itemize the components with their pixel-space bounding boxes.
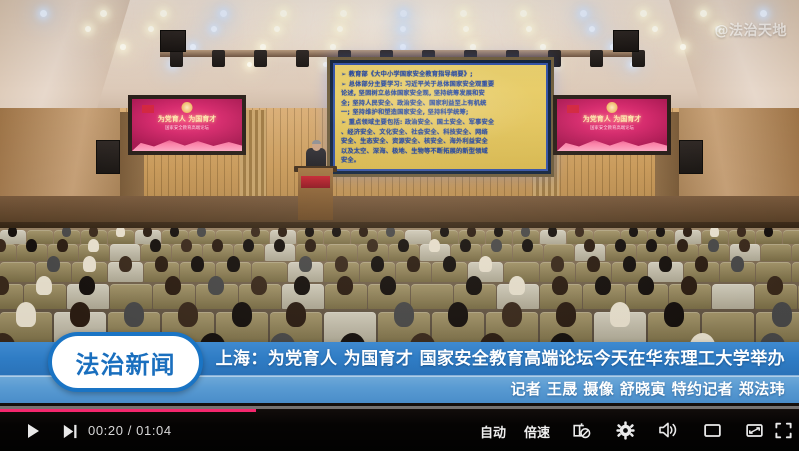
ceiling-light: [760, 10, 767, 17]
stage-light-bar: [160, 50, 640, 57]
ceiling-light: [700, 10, 707, 17]
audience-member: [509, 276, 525, 295]
program-logo-label: 法治新闻: [76, 345, 176, 380]
audience-member: [251, 276, 267, 295]
flag-graphic-left: [142, 105, 154, 113]
audience-member: [556, 302, 576, 327]
ceiling-light: [337, 26, 343, 32]
picture-in-picture-icon[interactable]: [700, 418, 724, 442]
ceiling-light: [148, 26, 154, 32]
ceiling-light: [640, 10, 647, 17]
audience-member: [394, 302, 414, 327]
stage-spotlight: [296, 50, 309, 67]
news-credits: 记者 王晟 摄像 舒晓寅 特约记者 郑法玮: [510, 377, 785, 402]
ceiling-light: [330, 44, 336, 50]
hanging-speaker-right: [613, 30, 639, 52]
audience-member: [681, 276, 697, 295]
stage-spotlight: [254, 50, 267, 67]
audience-member: [739, 239, 750, 252]
ceiling-light: [40, 10, 47, 17]
audience-member: [491, 239, 502, 252]
led-screen-right: 为党育人 为国育才 国家安全教育高端论坛: [553, 95, 671, 155]
slide-line: 、经济安全、文化安全、社会安全、科技安全、网络: [341, 128, 540, 138]
stage-spotlight: [632, 50, 645, 67]
audience-member: [460, 239, 471, 252]
ceiling-light: [589, 26, 595, 32]
ceiling-light: [120, 44, 126, 50]
ceiling-light: [247, 62, 252, 67]
audience-member: [286, 302, 306, 327]
ceiling-light: [400, 44, 406, 50]
audience-member: [595, 276, 611, 295]
play-button[interactable]: [20, 418, 46, 444]
ceiling-light: [160, 10, 167, 17]
hanging-speaker-left: [160, 30, 186, 52]
audience-member: [191, 256, 204, 272]
audience-member: [466, 276, 482, 295]
audience-member: [677, 239, 688, 252]
audience-member: [695, 256, 708, 272]
no-screenshot-icon[interactable]: [570, 418, 594, 442]
ceiling-light: [220, 10, 227, 17]
auditorium-seat: [405, 230, 431, 244]
audience-member: [16, 302, 36, 327]
ceiling-light: [85, 26, 91, 32]
ceiling-light: [340, 10, 347, 17]
audience-member: [638, 276, 654, 295]
slide-line: 一; 坚持维护和塑造国家安全, 坚持科学统筹;: [341, 108, 540, 118]
audience-member: [124, 302, 144, 327]
lower-third: 上海：为党育人 为国育才 国家安全教育高端论坛今天在华东理工大学举办 记者 王晟…: [0, 342, 799, 403]
audience-member: [552, 276, 568, 295]
audience-member: [610, 302, 630, 327]
audience-member: [659, 256, 672, 272]
audience-member: [623, 256, 636, 272]
led-skyline-right: [557, 133, 667, 151]
ceiling-light: [400, 26, 406, 32]
audience-member: [119, 256, 132, 272]
audience-member: [36, 276, 52, 295]
ceiling-light: [580, 10, 587, 17]
led-title-right: 为党育人 为国育才: [557, 114, 667, 124]
audience-member: [371, 256, 384, 272]
slide-line: 安全、生态安全、资源安全、核安全、海外利益安全: [341, 137, 540, 147]
wall-speaker-right: [679, 140, 703, 174]
audience-member: [367, 239, 378, 252]
ceiling-light: [100, 10, 107, 17]
audience-member: [79, 276, 95, 295]
audience-member: [335, 256, 348, 272]
audience-member: [274, 239, 285, 252]
auditorium-seat: [761, 244, 791, 261]
slide-line: ➢ 总体部分主要学习: 习近平关于总体国家安全观重要: [341, 80, 540, 90]
projection-screen-content: ➢ 教育部《大中小学国家安全教育指导纲要》;➢ 总体部分主要学习: 习近平关于总…: [333, 63, 548, 171]
audience-member: [479, 256, 492, 272]
stage-spotlight: [212, 50, 225, 67]
audience-member: [181, 239, 192, 252]
audience-member: [646, 239, 657, 252]
audience-member: [47, 256, 60, 272]
stage-spotlight: [590, 50, 603, 67]
audience-member: [155, 256, 168, 272]
settings-gear-icon[interactable]: [613, 418, 637, 442]
ceiling-light: [520, 10, 527, 17]
volume-icon[interactable]: [656, 418, 680, 442]
ceiling-light: [540, 44, 546, 50]
program-logo: 法治新闻: [48, 332, 203, 392]
audience-member: [584, 239, 595, 252]
audience-member: [731, 256, 744, 272]
news-headline: 上海：为党育人 为国育才 国家安全教育高端论坛今天在华东理工大学举办: [216, 344, 785, 374]
auditorium-seat: [712, 284, 754, 309]
audience-member: [664, 302, 684, 327]
audience-member: [243, 239, 254, 252]
audience-member: [615, 239, 626, 252]
audience-member: [294, 276, 310, 295]
audience-member: [587, 256, 600, 272]
audience-member: [551, 256, 564, 272]
audience-member: [502, 302, 522, 327]
audience-member: [212, 239, 223, 252]
channel-watermark: @法治天地: [715, 20, 788, 40]
slide-line: ➢ 教育部《大中小学国家安全教育指导纲要》;: [341, 70, 540, 80]
ceiling-light: [260, 44, 266, 50]
stage-spotlight: [170, 50, 183, 67]
slide-line: 安全。: [341, 156, 540, 166]
audience-member: [116, 228, 125, 237]
ceiling-light: [400, 10, 407, 17]
audience-member: [407, 256, 420, 272]
speaker-hair: [312, 140, 321, 144]
video-player: ➢ 教育部《大中小学国家安全教育指导纲要》;➢ 总体部分主要学习: 习近平关于总…: [0, 0, 799, 451]
led-skyline-left: [132, 133, 242, 151]
wall-speaker-left: [96, 140, 120, 174]
led-title-left: 为党育人 为国育才: [132, 114, 242, 124]
next-track-button[interactable]: [56, 418, 82, 444]
playback-speed-button[interactable]: 倍速: [524, 422, 550, 441]
audience-member: [429, 239, 440, 252]
emblem-right: [607, 102, 618, 113]
auditorium-seat: [783, 230, 799, 244]
ceiling-light: [280, 10, 287, 17]
podium-placard: [301, 176, 330, 188]
auditorium-seat: [411, 284, 453, 309]
audience-member: [305, 239, 316, 252]
audience-member: [708, 239, 719, 252]
audience-member: [772, 302, 792, 327]
audience-member: [710, 228, 719, 237]
emblem-left: [182, 102, 193, 113]
ceiling-light: [470, 44, 476, 50]
audience-member: [150, 239, 161, 252]
slide-line: 以及太空、深海、极地、生物等不断拓展的新型领域: [341, 147, 540, 157]
auto-quality-button[interactable]: 自动: [480, 422, 506, 441]
ceiling-light: [463, 26, 469, 32]
ceiling-light: [460, 10, 467, 17]
ceiling-light: [526, 26, 532, 32]
slide-line: ➢ 重点领域主要包括: 政治安全、国土安全、军事安全: [341, 118, 540, 128]
audience-member: [337, 276, 353, 295]
ceiling-light: [190, 44, 196, 50]
fullscreen-icon[interactable]: [771, 418, 795, 442]
audience-member: [70, 302, 90, 327]
web-fullscreen-icon[interactable]: [742, 418, 766, 442]
progress-bar-track[interactable]: [0, 406, 799, 409]
led-subtitle-right: 国家安全教育高端论坛: [557, 125, 667, 131]
audience-member: [398, 239, 409, 252]
audience-member: [380, 276, 396, 295]
ceiling-light: [211, 26, 217, 32]
audience-member: [208, 276, 224, 295]
ceiling-light: [652, 26, 658, 32]
audience-member: [299, 256, 312, 272]
audience-member: [227, 256, 240, 272]
ceiling-light: [680, 44, 686, 50]
audience-member: [767, 276, 783, 295]
audience-member: [443, 256, 456, 272]
audience-member: [448, 302, 468, 327]
audience-member: [522, 239, 533, 252]
player-controls: 00:20 / 01:04 自动 倍速: [0, 403, 799, 451]
audience-member: [26, 239, 37, 252]
ceiling-light: [274, 26, 280, 32]
audience-member: [88, 239, 99, 252]
audience-member: [83, 256, 96, 272]
led-screen-left: 为党育人 为国育才 国家安全教育高端论坛: [128, 95, 246, 155]
slide-line: 全; 坚持人民安全、政治安全、国家利益至上有机统: [341, 99, 540, 109]
flag-graphic-right: [567, 105, 579, 113]
auditorium-seat: [792, 262, 799, 282]
time-display: 00:20 / 01:04: [88, 423, 172, 438]
auditorium-seat: [792, 244, 799, 261]
audience-member: [57, 239, 68, 252]
audience-member: [232, 302, 252, 327]
led-subtitle-left: 国家安全教育高端论坛: [132, 125, 242, 131]
audience-member: [165, 276, 181, 295]
projection-screen: ➢ 教育部《大中小学国家安全教育指导纲要》;➢ 总体部分主要学习: 习近平关于总…: [327, 57, 554, 177]
audience-member: [178, 302, 198, 327]
slide-line: 论述, 坚固树立总体国家安全观, 坚持统筹发展和安: [341, 89, 540, 99]
